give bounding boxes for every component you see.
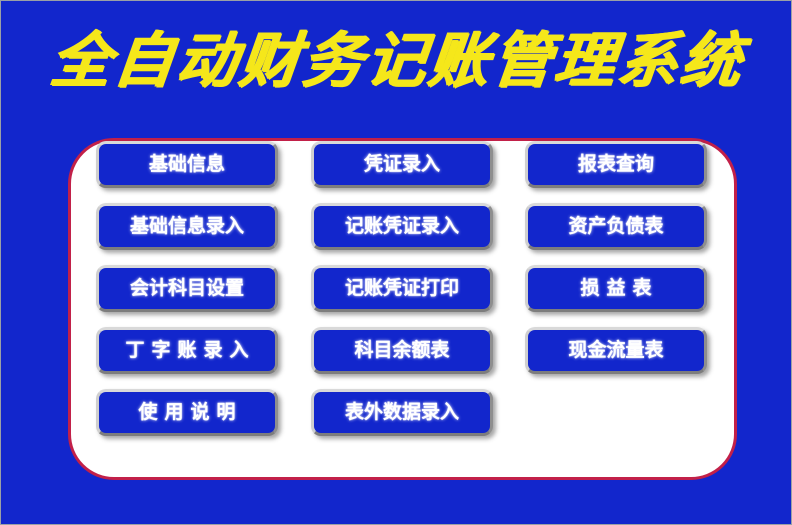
menu-button-t-account-entry[interactable]: 丁字账录入	[96, 327, 278, 374]
menu-button-balance-sheet[interactable]: 资产负债表	[525, 203, 707, 250]
menu-button-subject-balance-sheet[interactable]: 科目余额表	[311, 327, 493, 374]
title-bar: 全自动财务记账管理系统	[1, 23, 792, 99]
menu-button-off-balance-sheet-data-entry[interactable]: 表外数据录入	[311, 389, 493, 436]
menu-button-label: 凭证录入	[364, 155, 440, 174]
menu-button-label: 基础信息	[149, 155, 225, 174]
menu-button-label: 记账凭证打印	[345, 279, 459, 298]
menu-button-basic-information-entry[interactable]: 基础信息录入	[96, 203, 278, 250]
menu-button-voucher-entry[interactable]: 凭证录入	[311, 141, 493, 188]
menu-button-bookkeeping-voucher-entry[interactable]: 记账凭证录入	[311, 203, 493, 250]
menu-button-label: 基础信息录入	[130, 217, 244, 236]
menu-button-label: 丁字账录入	[118, 341, 255, 360]
menu-button-label: 记账凭证录入	[345, 217, 459, 236]
menu-column-basic-information: 基础信息 基础信息录入 会计科目设置 丁字账录入 使用说明	[96, 141, 278, 451]
menu-button-income-statement[interactable]: 损益表	[525, 265, 707, 312]
menu-button-label: 会计科目设置	[130, 279, 244, 298]
menu-button-label: 现金流量表	[568, 341, 663, 360]
page-title: 全自动财务记账管理系统	[47, 31, 746, 91]
main-menu-panel: 基础信息 基础信息录入 会计科目设置 丁字账录入 使用说明 凭证录入 记账凭证录…	[68, 138, 737, 480]
menu-button-bookkeeping-voucher-print[interactable]: 记账凭证打印	[311, 265, 493, 312]
menu-button-label: 科目余额表	[354, 341, 449, 360]
menu-button-instructions[interactable]: 使用说明	[96, 389, 278, 436]
menu-button-label: 报表查询	[578, 155, 654, 174]
menu-button-report-query[interactable]: 报表查询	[525, 141, 707, 188]
application-window: 全自动财务记账管理系统 基础信息 基础信息录入 会计科目设置 丁字账录入 使用说…	[0, 0, 792, 525]
menu-button-label: 使用说明	[131, 403, 242, 422]
menu-column-report-query: 报表查询 资产负债表 损益表 现金流量表	[525, 141, 707, 389]
menu-column-voucher-entry: 凭证录入 记账凭证录入 记账凭证打印 科目余额表 表外数据录入	[311, 141, 493, 451]
menu-button-label: 表外数据录入	[345, 403, 459, 422]
menu-button-cash-flow-statement[interactable]: 现金流量表	[525, 327, 707, 374]
menu-button-label: 损益表	[573, 279, 658, 298]
menu-button-label: 资产负债表	[568, 217, 663, 236]
menu-button-account-subject-settings[interactable]: 会计科目设置	[96, 265, 278, 312]
menu-button-basic-information[interactable]: 基础信息	[96, 141, 278, 188]
